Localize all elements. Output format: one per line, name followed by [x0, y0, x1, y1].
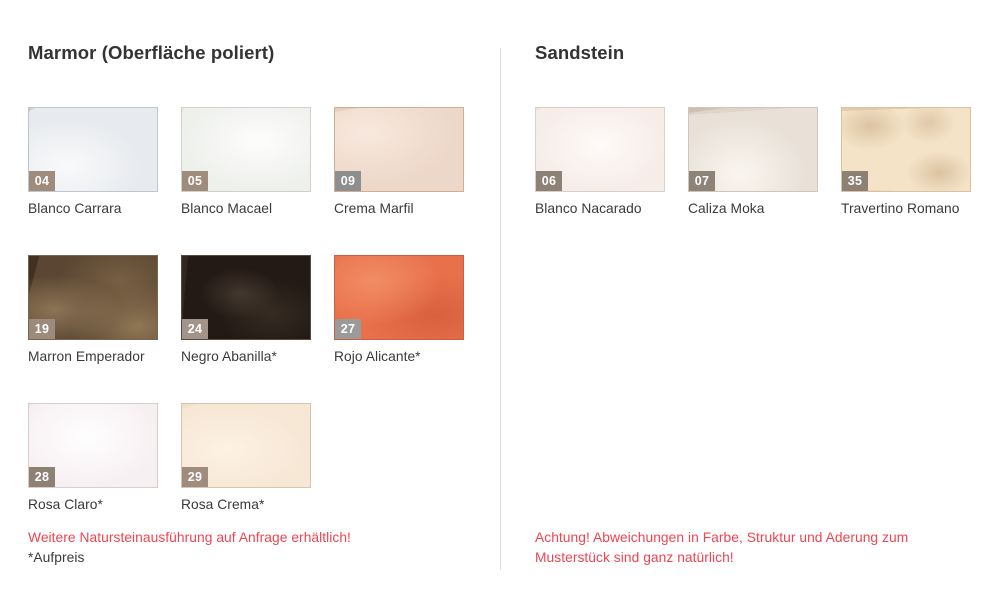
swatch-code-badge: 35	[842, 171, 868, 191]
swatch-cell[interactable]: 24Negro Abanilla*	[181, 255, 334, 364]
swatch-code-badge: 09	[335, 171, 361, 191]
swatch-cell[interactable]: 35Travertino Romano	[841, 107, 994, 216]
swatch-code-badge: 28	[29, 467, 55, 487]
note-marmor-availability: Weitere Natursteinausführung auf Anfrage…	[28, 528, 488, 548]
swatch-code-badge: 06	[536, 171, 562, 191]
swatch-label: Blanco Macael	[181, 201, 334, 216]
swatch-cell[interactable]: 29Rosa Crema*	[181, 403, 334, 512]
swatch-cell[interactable]: 06Blanco Nacarado	[535, 107, 688, 216]
section-title-marmor: Marmor (Oberfläche poliert)	[28, 42, 274, 64]
swatch-code-badge: 24	[182, 319, 208, 339]
stone-swatch[interactable]: 24	[181, 255, 311, 340]
note-marmor-surcharge: *Aufpreis	[28, 548, 488, 568]
swatch-cell[interactable]: 27Rojo Alicante*	[334, 255, 487, 364]
swatch-label: Rosa Claro*	[28, 497, 181, 512]
swatch-label: Blanco Nacarado	[535, 201, 688, 216]
stone-swatch[interactable]: 28	[28, 403, 158, 488]
swatch-code-badge: 27	[335, 319, 361, 339]
swatch-label: Rosa Crema*	[181, 497, 334, 512]
swatch-cell[interactable]: 07Caliza Moka	[688, 107, 841, 216]
swatch-cell[interactable]: 28Rosa Claro*	[28, 403, 181, 512]
column-divider	[500, 48, 501, 570]
swatch-label: Rojo Alicante*	[334, 349, 487, 364]
swatch-code-badge: 19	[29, 319, 55, 339]
stone-swatch[interactable]: 06	[535, 107, 665, 192]
stone-swatch[interactable]: 35	[841, 107, 971, 192]
swatch-cell[interactable]: 04Blanco Carrara	[28, 107, 181, 216]
swatch-label: Negro Abanilla*	[181, 349, 334, 364]
stone-swatch[interactable]: 07	[688, 107, 818, 192]
swatch-cell[interactable]: 05Blanco Macael	[181, 107, 334, 216]
swatch-label: Blanco Carrara	[28, 201, 181, 216]
section-title-sandstein: Sandstein	[535, 42, 624, 64]
swatch-label: Crema Marfil	[334, 201, 487, 216]
swatch-label: Travertino Romano	[841, 201, 994, 216]
natural-stone-sample-board: Marmor (Oberfläche poliert) 04Blanco Car…	[0, 0, 1000, 613]
stone-swatch[interactable]: 27	[334, 255, 464, 340]
stone-swatch[interactable]: 19	[28, 255, 158, 340]
swatch-label: Marron Emperador	[28, 349, 181, 364]
stone-swatch[interactable]: 09	[334, 107, 464, 192]
swatch-code-badge: 07	[689, 171, 715, 191]
swatch-cell[interactable]: 19Marron Emperador	[28, 255, 181, 364]
swatch-cell[interactable]: 09Crema Marfil	[334, 107, 487, 216]
swatch-code-badge: 29	[182, 467, 208, 487]
swatch-code-badge: 04	[29, 171, 55, 191]
stone-swatch[interactable]: 05	[181, 107, 311, 192]
swatch-label: Caliza Moka	[688, 201, 841, 216]
swatch-code-badge: 05	[182, 171, 208, 191]
note-sandstein-warning: Achtung! Abweichungen in Farbe, Struktur…	[535, 528, 987, 567]
stone-swatch[interactable]: 29	[181, 403, 311, 488]
stone-swatch[interactable]: 04	[28, 107, 158, 192]
